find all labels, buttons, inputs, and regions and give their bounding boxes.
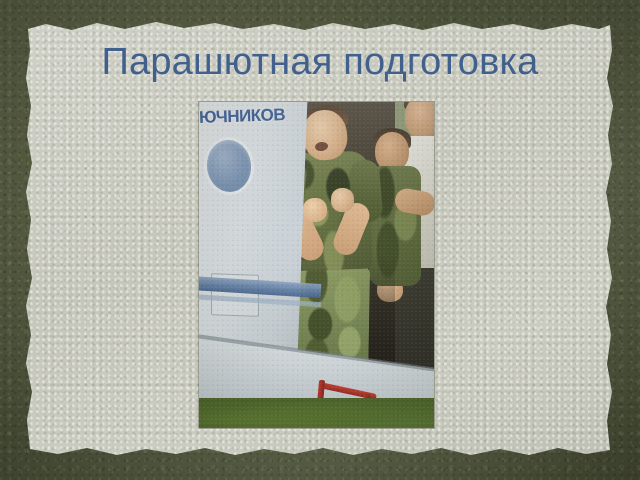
jumping-boy-fist-right xyxy=(331,188,354,212)
slide-photo: ЮЧНИКОВ xyxy=(199,102,434,428)
grass-foreground xyxy=(199,398,434,428)
page-title: Парашютная подготовка xyxy=(0,42,640,84)
instructor-head xyxy=(405,102,434,138)
fuselage-lettering: ЮЧНИКОВ xyxy=(199,104,317,128)
photo-inner: ЮЧНИКОВ xyxy=(199,102,434,428)
jumping-boy-fist-left xyxy=(303,198,327,222)
presentation-slide: Парашютная подготовка xyxy=(0,0,640,480)
